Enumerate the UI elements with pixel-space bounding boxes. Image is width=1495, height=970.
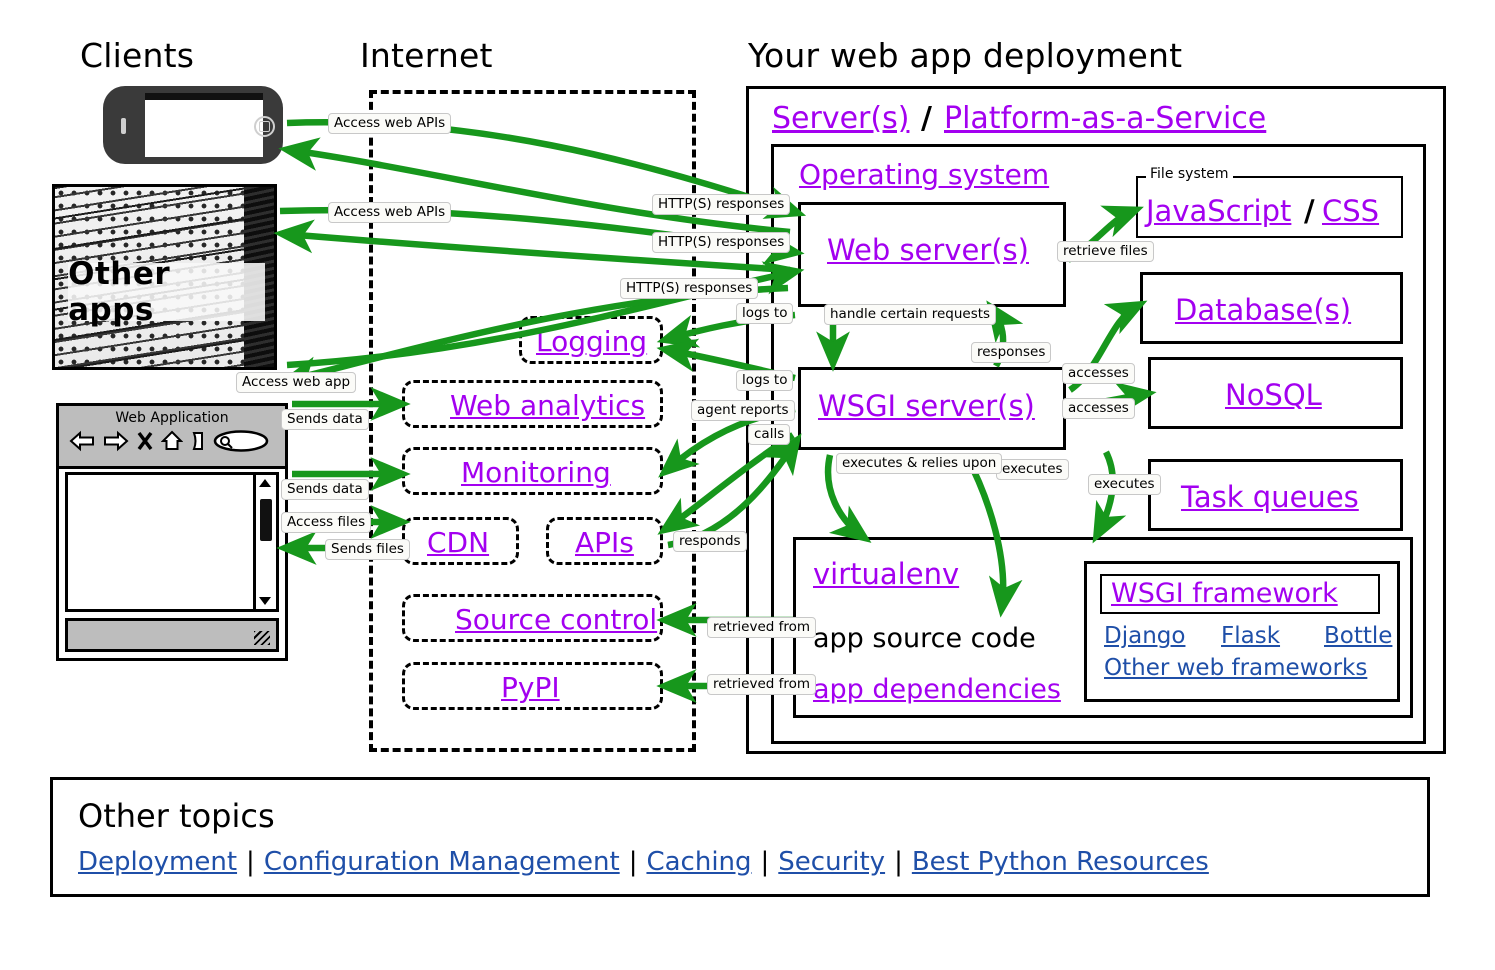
topic-link-best-python-resources[interactable]: Best Python Resources [912, 847, 1209, 877]
internet-box-pypi[interactable]: PyPI [402, 662, 663, 710]
topic-link-deployment[interactable]: Deployment [78, 847, 237, 877]
edge-label-sends-files: Sends files [325, 539, 410, 560]
topic-link-configuration-management[interactable]: Configuration Management [264, 847, 620, 877]
mobile-phone-illustration [103, 86, 283, 164]
other-topics-panel [50, 777, 1430, 897]
monitoring-label: Monitoring [461, 456, 611, 489]
wsgi-framework-box[interactable]: WSGI framework [1100, 574, 1380, 614]
edge-label-retrieved-from-2: retrieved from [707, 674, 816, 695]
task-queues-box[interactable]: Task queues [1148, 459, 1403, 531]
edge-label-logs-to-1: logs to [736, 303, 793, 324]
wsgi-framework-label: WSGI framework [1111, 578, 1338, 609]
other-topics-links: Deployment | Configuration Management | … [78, 847, 1209, 877]
edge-label-access-web-apis-2: Access web APIs [328, 202, 451, 223]
app-dependencies-label[interactable]: app dependencies [813, 674, 1061, 705]
internet-box-logging[interactable]: Logging [519, 316, 663, 364]
virtualenv-box: virtualenv app source code app dependenc… [793, 537, 1413, 718]
cdn-label: CDN [427, 526, 489, 559]
other-apps-caption: Other apps [68, 263, 265, 321]
edge-label-logs-to-2: logs to [736, 370, 793, 391]
app-source-code-label: app source code [813, 623, 1036, 654]
internet-box-monitoring[interactable]: Monitoring [402, 447, 663, 495]
operating-system-label[interactable]: Operating system [799, 158, 1049, 191]
paas-label[interactable]: Platform-as-a-Service [944, 101, 1266, 136]
internet-box-apis[interactable]: APIs [546, 517, 663, 565]
framework-flask-link[interactable]: Flask [1221, 623, 1280, 649]
virtualenv-label[interactable]: virtualenv [813, 557, 959, 591]
column-title-clients: Clients [80, 36, 194, 75]
browser-scrollbar[interactable] [253, 475, 276, 609]
web-analytics-label: Web analytics [450, 389, 645, 422]
edge-label-accesses-1: accesses [1062, 363, 1135, 384]
column-title-deployment: Your web app deployment [748, 36, 1182, 75]
forward-arrow-icon[interactable] [103, 430, 129, 452]
edge-label-executes-2: executes [1088, 474, 1161, 495]
databases-label: Database(s) [1175, 293, 1351, 327]
stop-x-icon[interactable] [137, 430, 153, 452]
source-control-label: Source control [455, 603, 657, 636]
css-label[interactable]: CSS [1322, 194, 1379, 228]
edge-label-http-responses-2: HTTP(S) responses [652, 232, 790, 253]
topic-separator-2: | [620, 847, 647, 877]
edge-label-sends-data-1: Sends data [281, 409, 369, 430]
browser-toolbar [69, 430, 269, 452]
edge-label-retrieve-files: retrieve files [1057, 241, 1154, 262]
edge-label-agent-reports: agent reports [691, 400, 795, 421]
edge-label-sends-data-2: Sends data [281, 479, 369, 500]
resize-grip-icon[interactable] [254, 631, 270, 645]
browser-title: Web Application [59, 410, 285, 426]
page-icon[interactable] [191, 430, 205, 452]
edge-label-http-responses-1: HTTP(S) responses [652, 194, 790, 215]
column-title-internet: Internet [360, 36, 493, 75]
other-topics-title: Other topics [78, 797, 275, 835]
edge-label-responses: responses [971, 342, 1051, 363]
framework-django-link[interactable]: Django [1104, 623, 1185, 649]
edge-label-executes-1: executes [996, 459, 1069, 480]
edge-label-access-web-app: Access web app [236, 372, 356, 393]
internet-box-source-control[interactable]: Source control [402, 594, 663, 642]
edge-label-responds: responds [673, 531, 747, 552]
web-browser-illustration: Web Application [56, 403, 288, 661]
pypi-label: PyPI [501, 671, 560, 704]
other-apps-server-rack: Other apps [52, 184, 277, 370]
server-label[interactable]: Server(s) [772, 101, 909, 136]
back-arrow-icon[interactable] [69, 430, 95, 452]
browser-statusbar [65, 618, 279, 652]
topic-link-security[interactable]: Security [778, 847, 885, 877]
edge-label-executes-relies-upon: executes & relies upon [836, 453, 1002, 474]
wsgi-server-box[interactable]: WSGI server(s) [798, 367, 1066, 450]
topic-separator-3: | [752, 847, 779, 877]
search-field-icon[interactable] [213, 430, 269, 452]
edge-label-retrieved-from-1: retrieved from [707, 617, 816, 638]
nosql-label: NoSQL [1225, 378, 1322, 412]
other-web-frameworks-link[interactable]: Other web frameworks [1104, 655, 1367, 681]
edge-label-calls: calls [748, 424, 790, 445]
server-paas-slash: / [921, 101, 932, 136]
edge-label-http-responses-3: HTTP(S) responses [620, 278, 758, 299]
javascript-label[interactable]: JavaScript [1146, 194, 1291, 228]
nosql-box[interactable]: NoSQL [1148, 357, 1403, 429]
apis-label: APIs [575, 526, 634, 559]
task-queues-label: Task queues [1181, 480, 1359, 514]
browser-viewport [65, 472, 279, 612]
framework-bottle-link[interactable]: Bottle [1324, 623, 1392, 649]
diagram-canvas: Clients Internet Your web app deployment… [0, 0, 1495, 970]
web-server-label: Web server(s) [827, 233, 1029, 267]
databases-box[interactable]: Database(s) [1140, 272, 1403, 344]
edge-label-access-files: Access files [281, 512, 371, 533]
logging-label: Logging [536, 325, 647, 358]
topic-link-caching[interactable]: Caching [646, 847, 751, 877]
edge-label-handle-certain-requests: handle certain requests [824, 304, 996, 325]
edge-label-accesses-2: accesses [1062, 398, 1135, 419]
topic-separator-1: | [237, 847, 264, 877]
wsgi-framework-group: WSGI framework Django Flask Bottle Other… [1084, 561, 1400, 702]
topic-separator-4: | [885, 847, 912, 877]
wsgi-server-label: WSGI server(s) [818, 389, 1035, 423]
internet-box-web-analytics[interactable]: Web analytics [402, 380, 663, 428]
edge-label-access-web-apis-1: Access web APIs [328, 113, 451, 134]
file-system-caption: File system [1146, 166, 1233, 182]
browser-chrome: Web Application [59, 406, 285, 469]
js-css-slash: / [1304, 194, 1315, 228]
home-icon[interactable] [161, 430, 183, 452]
web-server-box[interactable]: Web server(s) [798, 202, 1066, 307]
internet-box-cdn[interactable]: CDN [402, 517, 519, 565]
